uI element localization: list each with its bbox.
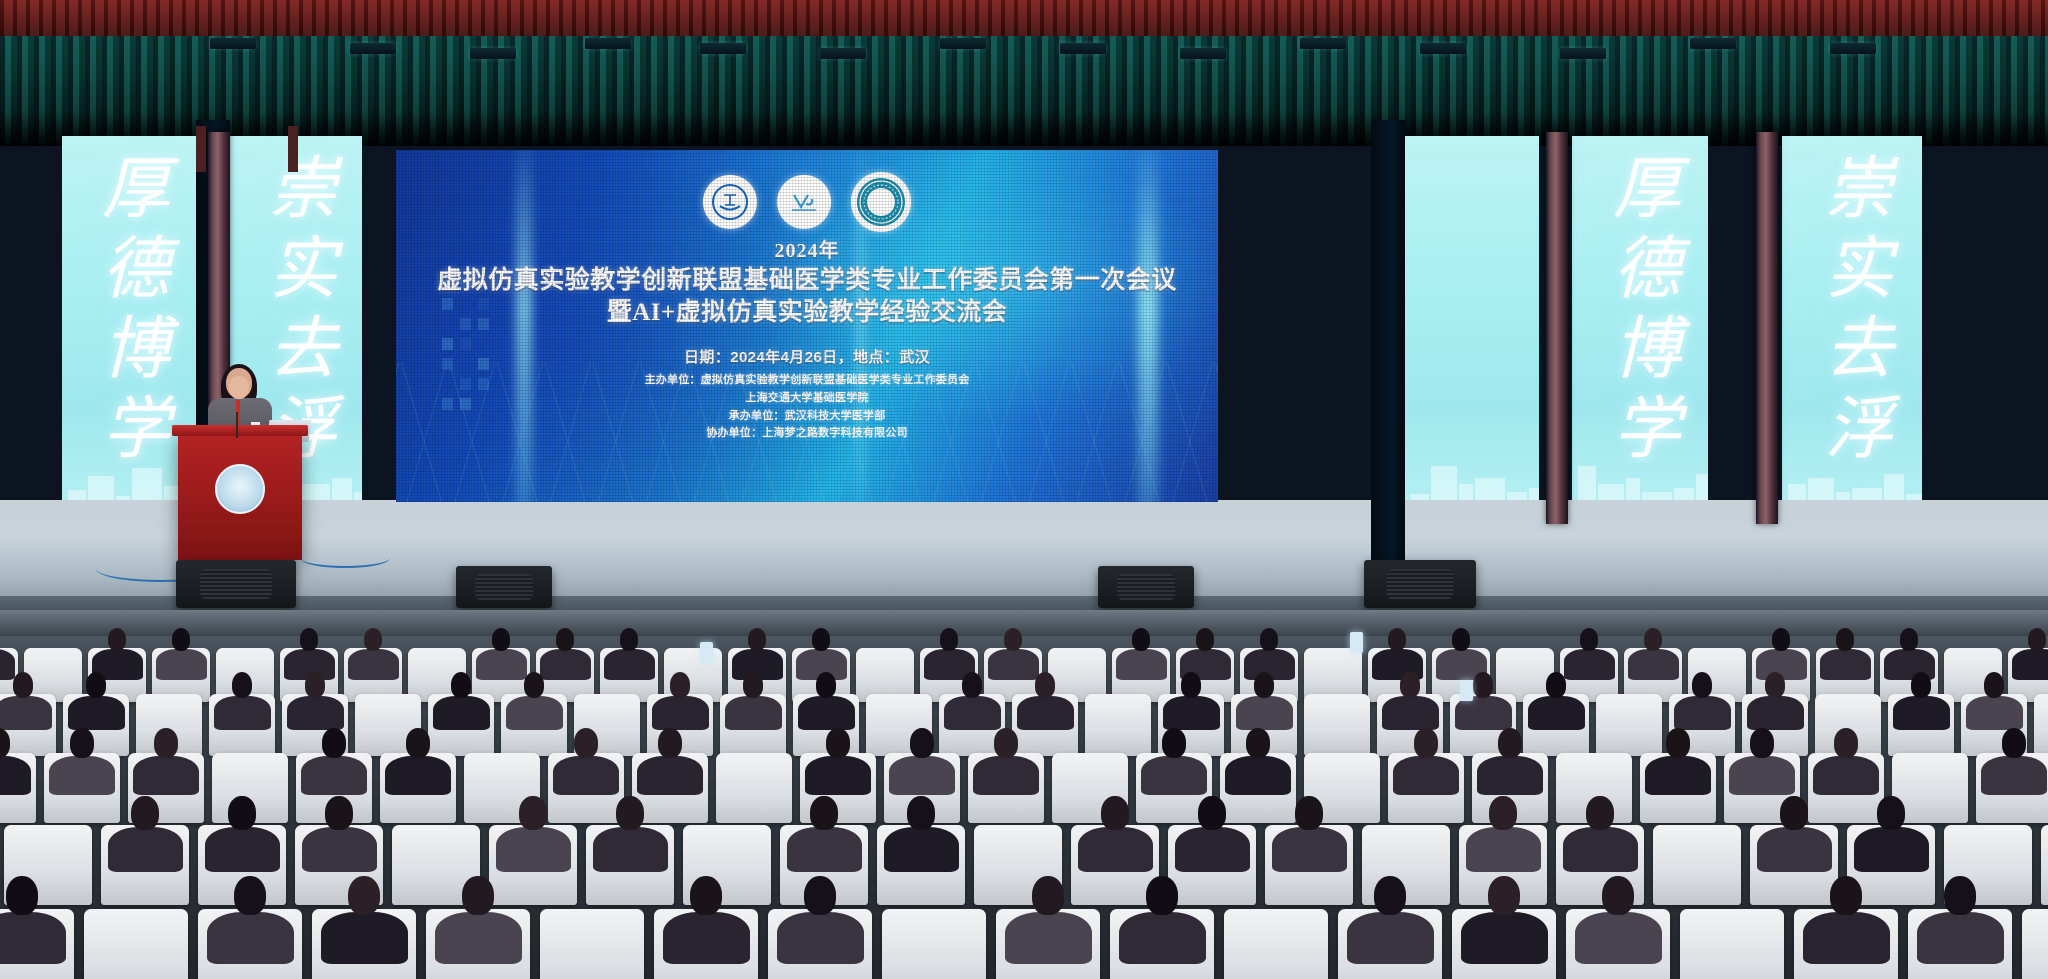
organizer-line-1: 上海交通大学基础医学院 [396, 390, 1218, 408]
audience-person-head [1132, 628, 1151, 651]
audience-person-head [1198, 796, 1226, 830]
audience-person-head [658, 728, 682, 758]
screen-datetime-line: 日期：2024年4月26日，地点：武汉 [396, 346, 1218, 367]
audience-person-head [1900, 628, 1919, 651]
audience-person-shoulders [133, 756, 199, 796]
audience-phone-screen [700, 642, 713, 663]
audience-person-head [1765, 672, 1786, 698]
audience-phone-screen [1460, 680, 1473, 701]
audience-chair [1653, 825, 1741, 905]
podium-top-surface [172, 425, 308, 436]
stage-pillar-right-2 [1756, 132, 1778, 524]
audience-person-shoulders [1820, 649, 1871, 680]
audience-person-shoulders [214, 696, 271, 730]
audience-person-shoulders [777, 912, 864, 964]
audience-person-head [1246, 728, 1270, 758]
audience-person-head [1295, 796, 1323, 830]
truss-light [210, 38, 256, 49]
audience-person-head [910, 728, 934, 758]
audience-person-shoulders [1854, 827, 1929, 872]
monitor-3-cone [1117, 574, 1175, 600]
speaker-podium [178, 434, 302, 560]
truss-light [1830, 43, 1876, 54]
conference-stage-photo: 厚德博学 崇实去浮 厚德博学 崇实去浮 [0, 0, 2048, 979]
banner-right-3-text: 崇实去浮 [1811, 152, 1894, 472]
audience-person-shoulders [506, 696, 563, 730]
audience-person-shoulders [301, 756, 367, 796]
monitor-4-cone [1386, 569, 1453, 599]
audience-person-head [322, 728, 346, 758]
audience-person-head [1196, 628, 1215, 651]
audience-person-head [1834, 728, 1858, 758]
audience-person-shoulders [1005, 912, 1092, 964]
audience-person-head [364, 628, 383, 651]
stage-monitor-1 [176, 560, 296, 608]
audience-person-shoulders [348, 649, 399, 680]
audience-chair [2022, 909, 2048, 979]
audience-person-shoulders [1017, 696, 1074, 730]
side-banner-right-2: 厚德博学 [1572, 136, 1708, 514]
audience-person-shoulders [1466, 827, 1541, 872]
audience-person-shoulders [1119, 912, 1206, 964]
audience-person-shoulders [156, 649, 207, 680]
audience-person-shoulders [49, 756, 115, 796]
truss-light [820, 48, 866, 59]
audience-person-head [524, 672, 545, 698]
audience-person-head [131, 796, 159, 830]
proscenium-right [1371, 120, 1405, 590]
truss-light [700, 43, 746, 54]
audience-person-shoulders [787, 827, 862, 872]
audience-person-head [462, 876, 494, 915]
audience-person-shoulders [0, 696, 52, 730]
audience-person-shoulders [1461, 912, 1548, 964]
audience-person-head [1836, 628, 1855, 651]
audience-person-head [1692, 672, 1713, 698]
audience-person-head [172, 628, 191, 651]
logo-wust-seal-icon [851, 172, 911, 232]
audience-person-head [1488, 876, 1520, 915]
audience-person-shoulders [496, 827, 571, 872]
audience-person-head [234, 876, 266, 915]
audience-person-head [1780, 796, 1808, 830]
audience-person-shoulders [1917, 912, 2004, 964]
audience-person-shoulders [593, 827, 668, 872]
audience-person-head [70, 728, 94, 758]
audience-person-shoulders [553, 756, 619, 796]
audience-person-head [1473, 672, 1494, 698]
audience-person-shoulders [1477, 756, 1543, 796]
audience-person-head [1162, 728, 1186, 758]
organizer-line-0: 主办单位：虚拟仿真实验教学创新联盟基础医学类专业工作委员会 [396, 372, 1218, 390]
audience-person-shoulders [1116, 649, 1167, 680]
truss-light [350, 43, 396, 54]
monitor-2-cone [475, 574, 533, 600]
audience-person-shoulders [1393, 756, 1459, 796]
floor-cable-2 [300, 548, 390, 568]
audience-person-head [804, 876, 836, 915]
audience-phone-screen [1350, 632, 1363, 653]
audience-person-head [1374, 876, 1406, 915]
audience-person-head [1750, 728, 1774, 758]
audience-chair [1224, 909, 1328, 979]
audience-person-shoulders [988, 649, 1039, 680]
audience-person-shoulders [1078, 827, 1153, 872]
audience-person-shoulders [1347, 912, 1434, 964]
audience-person-head [1546, 672, 1567, 698]
audience-person-shoulders [725, 696, 782, 730]
audience-person-head [108, 628, 127, 651]
audience-person-head [1498, 728, 1522, 758]
screen-title-line-2: 暨AI+虚拟仿真实验教学经验交流会 [396, 297, 1218, 329]
audience-chair [540, 909, 644, 979]
audience-person-shoulders [1575, 912, 1662, 964]
audience-person-head [1944, 876, 1976, 915]
audience-person-shoulders [973, 756, 1039, 796]
podium-microphone [236, 412, 238, 438]
audience-person-head [1254, 672, 1275, 698]
audience-person-head [1414, 728, 1438, 758]
podium-leg-left [196, 126, 206, 172]
audience-person-head [154, 728, 178, 758]
audience-person-head [616, 796, 644, 830]
audience-person-head [1146, 876, 1178, 915]
audience-person-shoulders [1175, 827, 1250, 872]
audience-person-head [1666, 728, 1690, 758]
audience-chair [882, 909, 986, 979]
audience-person-shoulders [604, 649, 655, 680]
logo-alliance-icon [777, 175, 831, 229]
audience-person-shoulders [1747, 696, 1804, 730]
screen-text-block: 2024年 虚拟仿真实验教学创新联盟基础医学类专业工作委员会第一次会议 暨AI+… [396, 234, 1218, 367]
audience-person-head [962, 672, 983, 698]
audience-person-head [1602, 876, 1634, 915]
audience-person-head [1181, 672, 1202, 698]
audience-person-shoulders [1225, 756, 1291, 796]
audience-person-head [810, 796, 838, 830]
audience-person-head [86, 672, 107, 698]
audience-person-head [1830, 876, 1862, 915]
audience-person-head [451, 672, 472, 698]
audience-person-head [325, 796, 353, 830]
audience-person-shoulders [1563, 827, 1638, 872]
audience-person-shoulders [1645, 756, 1711, 796]
side-banner-right-1 [1405, 136, 1539, 514]
audience-person-head [743, 672, 764, 698]
audience-person-head [1911, 672, 1932, 698]
audience-person-shoulders [207, 912, 294, 964]
audience-person-head [2028, 628, 2047, 651]
side-banner-left-1: 厚德博学 [62, 136, 196, 516]
truss-light [1690, 38, 1736, 49]
audience-person-head [6, 876, 38, 915]
audience-person-shoulders [435, 912, 522, 964]
audience-person-shoulders [433, 696, 490, 730]
truss-light [470, 48, 516, 59]
audience-person-shoulders [1272, 827, 1347, 872]
logo-shanghai-jiaotong-icon [703, 175, 757, 229]
audience-person-shoulders [944, 696, 1001, 730]
audience-person-head [907, 796, 935, 830]
audience-person-head [232, 672, 253, 698]
audience-person-shoulders [1163, 696, 1220, 730]
main-led-screen: 2024年 虚拟仿真实验教学创新联盟基础医学类专业工作委员会第一次会议 暨AI+… [396, 150, 1218, 502]
audience-person-shoulders [1564, 649, 1615, 680]
truss-light [585, 38, 631, 49]
audience-person-shoulders [798, 696, 855, 730]
audience-person-head [1035, 672, 1056, 698]
audience-person-shoulders [205, 827, 280, 872]
audience-person-shoulders [302, 827, 377, 872]
audience-person-head [519, 796, 547, 830]
audience-person-shoulders [1628, 649, 1679, 680]
audience-person-shoulders [884, 827, 959, 872]
audience-person-head [1877, 796, 1905, 830]
logo-row [396, 172, 1218, 232]
audience-person-shoulders [1813, 756, 1879, 796]
audience-person-head [812, 628, 831, 651]
audience-person-shoulders [1803, 912, 1890, 964]
audience-person-head [1586, 796, 1614, 830]
stage-monitor-3 [1098, 566, 1194, 608]
presenter-face [229, 376, 249, 399]
stage-monitor-4 [1364, 560, 1476, 608]
audience-person-shoulders [0, 912, 66, 964]
audience-person-head [228, 796, 256, 830]
audience-person-head [748, 628, 767, 651]
banner-right-2-text: 厚德博学 [1599, 152, 1682, 472]
audience-chair [84, 909, 188, 979]
audience-chair [716, 753, 792, 823]
university-emblem [215, 464, 265, 514]
audience-area [0, 610, 2048, 979]
audience-person-head [300, 628, 319, 651]
audience-person-shoulders [2012, 649, 2048, 680]
audience-person-head [940, 628, 959, 651]
audience-person-shoulders [1528, 696, 1585, 730]
screen-title-line-1: 虚拟仿真实验教学创新联盟基础医学类专业工作委员会第一次会议 [396, 265, 1218, 297]
organizer-block: 主办单位：虚拟仿真实验教学创新联盟基础医学类专业工作委员会 上海交通大学基础医学… [396, 372, 1218, 443]
audience-person-head [690, 876, 722, 915]
audience-person-head [406, 728, 430, 758]
audience-person-head [574, 728, 598, 758]
audience-person-head [1580, 628, 1599, 651]
audience-person-head [2002, 728, 2026, 758]
organizer-line-2: 承办单位：武汉科技大学医学部 [396, 408, 1218, 426]
audience-person-shoulders [68, 696, 125, 730]
audience-person-head [816, 672, 837, 698]
audience-person-shoulders [889, 756, 955, 796]
audience-person-shoulders [637, 756, 703, 796]
audience-chair [1596, 694, 1662, 756]
organizer-line-3: 协办单位：上海梦之路数字科技有限公司 [396, 425, 1218, 443]
audience-person-head [1388, 628, 1407, 651]
audience-person-shoulders [540, 649, 591, 680]
audience-person-head [1032, 876, 1064, 915]
audience-person-shoulders [805, 756, 871, 796]
audience-person-shoulders [1981, 756, 2047, 796]
audience-person-head [1452, 628, 1471, 651]
audience-chair [2041, 825, 2048, 905]
audience-person-shoulders [1966, 696, 2023, 730]
audience-person-head [1489, 796, 1517, 830]
podium-leg-right [288, 126, 298, 172]
audience-person-head [826, 728, 850, 758]
banner-left-1-text: 厚德博学 [88, 152, 171, 472]
audience-chair [2034, 694, 2048, 756]
audience-person-shoulders [1236, 696, 1293, 730]
audience-person-head [1260, 628, 1279, 651]
audience-person-shoulders [108, 827, 183, 872]
monitor-1-cone [200, 569, 272, 599]
audience-person-head [1984, 672, 2005, 698]
audience-person-head [1644, 628, 1663, 651]
truss-light [1180, 48, 1226, 59]
audience-person-head [556, 628, 575, 651]
audience-person-head [1400, 672, 1421, 698]
truss-light [1060, 43, 1106, 54]
audience-person-head [1772, 628, 1791, 651]
stage-valance-curtain [0, 36, 2048, 146]
audience-person-head [348, 876, 380, 915]
audience-person-head [13, 672, 34, 698]
audience-person-shoulders [1729, 756, 1795, 796]
stage-pillar-right-1 [1546, 132, 1568, 524]
screen-year-line: 2024年 [396, 234, 1218, 263]
audience-person-shoulders [385, 756, 451, 796]
audience-person-shoulders [476, 649, 527, 680]
audience-person-shoulders [1757, 827, 1832, 872]
audience-person-head [620, 628, 639, 651]
truss-light [1560, 48, 1606, 59]
audience-person-shoulders [663, 912, 750, 964]
audience-person-shoulders [1674, 696, 1731, 730]
audience-person-head [1101, 796, 1129, 830]
audience-person-shoulders [1893, 696, 1950, 730]
stage-monitor-2 [456, 566, 552, 608]
audience-chair [1680, 909, 1784, 979]
audience-person-head [492, 628, 511, 651]
side-banner-right-3: 崇实去浮 [1782, 136, 1922, 514]
truss-light [940, 38, 986, 49]
truss-light [1420, 43, 1466, 54]
audience-person-shoulders [1382, 696, 1439, 730]
audience-chair [1304, 694, 1370, 756]
audience-person-head [994, 728, 1018, 758]
audience-chair [1085, 694, 1151, 756]
audience-person-head [670, 672, 691, 698]
audience-person-head [305, 672, 326, 698]
truss-light [1300, 38, 1346, 49]
audience-person-head [1004, 628, 1023, 651]
audience-person-shoulders [321, 912, 408, 964]
audience-person-shoulders [287, 696, 344, 730]
audience-person-shoulders [652, 696, 709, 730]
audience-person-shoulders [1141, 756, 1207, 796]
